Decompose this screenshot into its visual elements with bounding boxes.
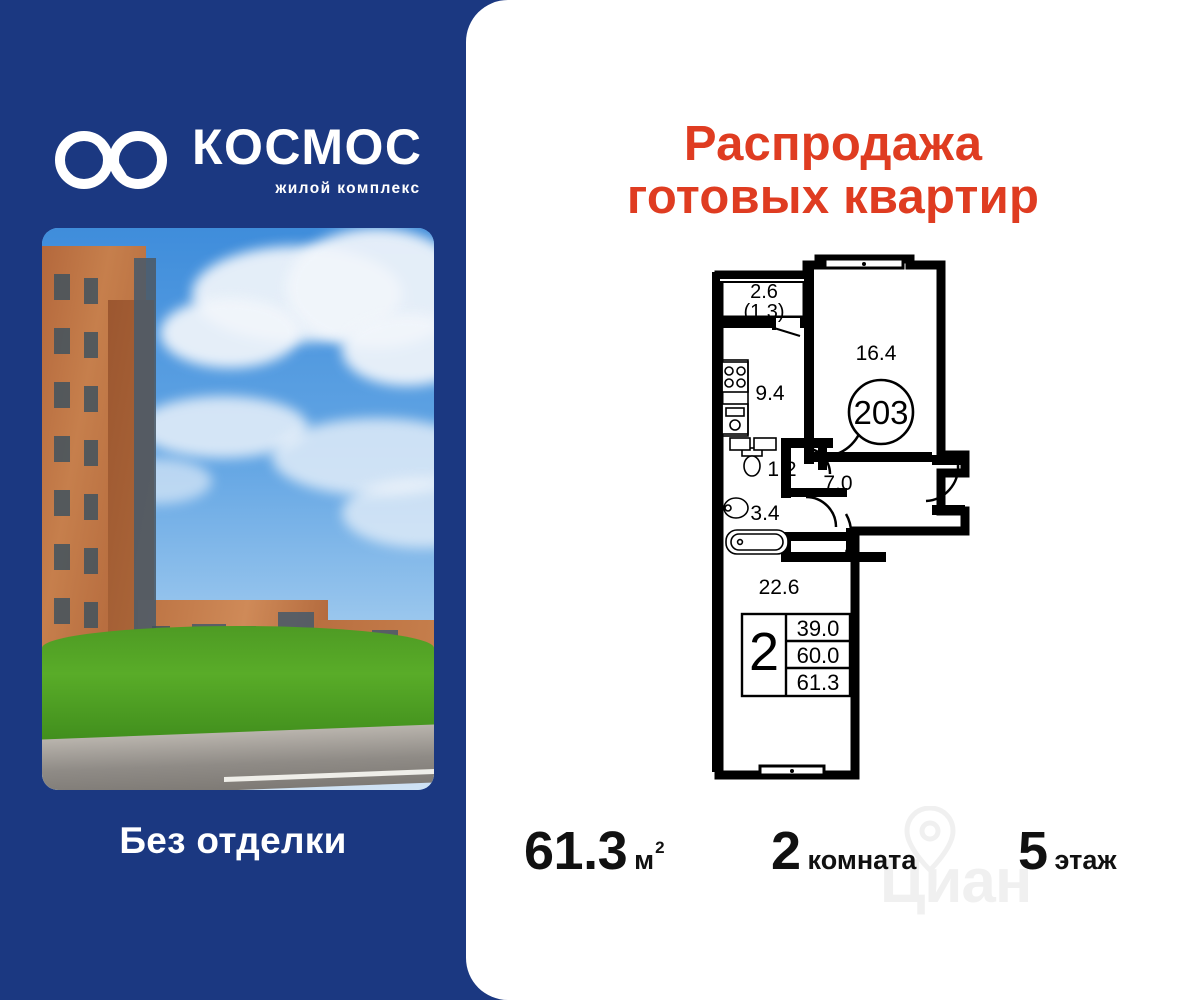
room-label-hallway: 7.0 <box>823 472 852 495</box>
room-label-bathroom: 3.4 <box>750 502 780 525</box>
room-label-wc: 1.2 <box>767 458 796 481</box>
infinity-icon <box>52 128 172 192</box>
brand-logo: КОСМОС жилой комплекс <box>52 122 423 198</box>
brand-column: КОСМОС жилой комплекс <box>0 0 466 1000</box>
kitchen-stove <box>722 362 748 392</box>
svg-text:39.0: 39.0 <box>797 616 840 641</box>
stat-area-superscript: 2 <box>655 838 664 858</box>
headline-line-1: Распродажа <box>466 118 1200 171</box>
room-label-balcony-sub: (1.3) <box>743 301 784 323</box>
room-label-balcony: 2.6 <box>750 281 778 303</box>
room-label-living-room: 16.4 <box>856 342 897 365</box>
bathroom-sink <box>724 498 748 518</box>
finish-type-label: Без отделки <box>0 820 466 862</box>
stat-floor: 5 этаж <box>1018 820 1116 882</box>
stat-area-unit: м <box>634 845 654 876</box>
apartment-stats: 61.3 м 2 2 комната 5 этаж <box>466 812 1200 898</box>
headline-line-2: готовых квартир <box>466 171 1200 224</box>
complex-photo <box>42 228 434 790</box>
stat-rooms-value: 2 <box>771 820 801 882</box>
stat-area-value: 61.3 <box>524 820 627 882</box>
apartment-number-badge: 203 <box>849 380 913 444</box>
bathroom-bathtub <box>726 530 788 554</box>
page-title: Распродажа готовых квартир <box>466 118 1200 225</box>
stat-floor-label: этаж <box>1055 845 1117 876</box>
svg-text:2: 2 <box>749 622 779 682</box>
wc-toilet <box>742 448 762 476</box>
svg-text:61.3: 61.3 <box>797 670 840 695</box>
stat-floor-value: 5 <box>1018 820 1048 882</box>
svg-text:60.0: 60.0 <box>797 643 840 668</box>
brand-name: КОСМОС <box>192 122 423 172</box>
floor-plan: 2.6 (1.3) 9.4 16.4 1.2 3.4 7.0 22.6 203 <box>686 252 986 812</box>
stat-rooms: 2 комната <box>771 820 916 882</box>
room-label-bedroom: 22.6 <box>759 576 800 599</box>
stat-rooms-label: комната <box>808 845 917 876</box>
stat-area: 61.3 м 2 <box>524 820 664 882</box>
kitchen-sink <box>722 404 748 434</box>
areas-table: 2 39.0 60.0 61.3 <box>742 614 850 696</box>
poster-root: КОСМОС жилой комплекс <box>0 0 1200 1000</box>
room-label-kitchen: 9.4 <box>755 382 785 405</box>
svg-text:203: 203 <box>853 394 908 431</box>
brand-subtitle: жилой комплекс <box>275 180 422 198</box>
